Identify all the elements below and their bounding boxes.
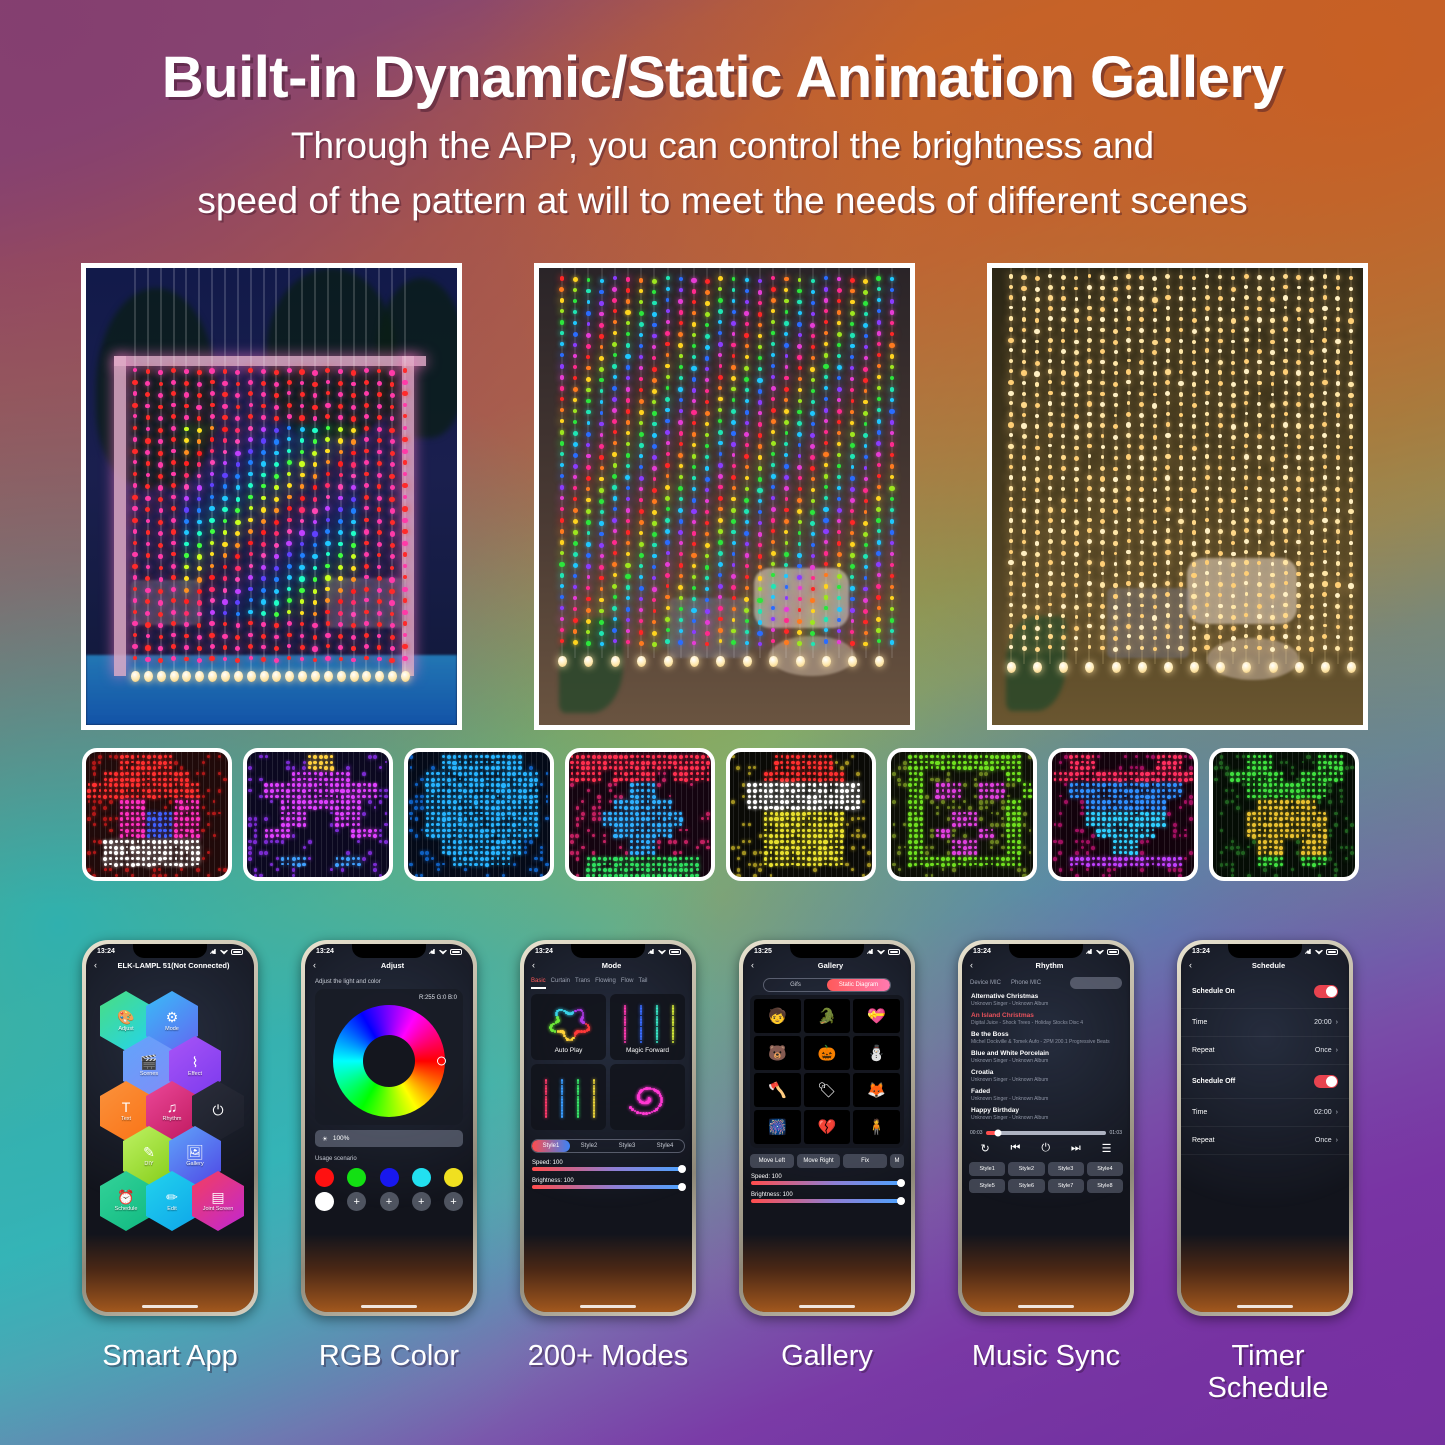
total-time: 01:03: [1109, 1130, 1122, 1136]
schedule-row-value-wrap: 02:00›: [1314, 1109, 1338, 1116]
back-button[interactable]: ‹: [532, 960, 535, 970]
gallery-item-broken-heart[interactable]: 💔: [804, 1110, 851, 1144]
song-item[interactable]: Alternative ChristmasUnknown Singer - Un…: [971, 993, 1121, 1007]
schedule-row-value-wrap: Once›: [1315, 1137, 1338, 1144]
mode-cell-1[interactable]: Magic Forward: [610, 994, 685, 1060]
home-indicator: [580, 1305, 636, 1308]
hero-image-living-room-rainbow: [534, 263, 915, 730]
gallery-item-fireworks[interactable]: 🎆: [754, 1110, 801, 1144]
chevron-right-icon: ›: [1336, 1109, 1338, 1116]
status-time: 13:24: [316, 948, 334, 955]
seek-slider[interactable]: [986, 1131, 1107, 1135]
brush-icon: ✎: [143, 1145, 155, 1159]
song-title: Blue and White Porcelain: [971, 1050, 1121, 1057]
mode-label: Magic Forward: [626, 1047, 669, 1054]
song-item[interactable]: An Island ChristmasDigital Juice - Shock…: [971, 1012, 1121, 1026]
screen-mode: 13:24 ‹ Mode BasicCurtainTransFlowingFlo…: [524, 944, 692, 1312]
rhythm-style-grid: Style1Style2Style3Style4Style5Style6Styl…: [962, 1159, 1130, 1196]
wifi-icon: [877, 949, 885, 955]
gallery-segment-control: GifsStatic Diagram: [763, 978, 891, 992]
song-subtitle: Digital Juice - Shock Trees - Holiday St…: [971, 1020, 1121, 1026]
pencil-square-icon: ✏: [166, 1190, 178, 1204]
song-subtitle: Unknown Singer - Unknown Album: [971, 1001, 1121, 1007]
screen-adjust: 13:24 ‹ Adjust Adjust the light and colo…: [305, 944, 473, 1312]
menu-hex-label: Edit: [167, 1206, 176, 1212]
wifi-icon: [220, 949, 228, 955]
phone-modes: 13:24 ‹ Mode BasicCurtainTransFlowingFlo…: [520, 940, 696, 1316]
section-label: Adjust the light and color: [305, 975, 473, 987]
segment-gifs[interactable]: Gifs: [764, 979, 827, 991]
device-name-title: ELK-LAMPL 51(Not Connected): [101, 961, 246, 970]
song-list: Alternative ChristmasUnknown Singer - Un…: [962, 991, 1130, 1128]
schedule-row-value: Once: [1315, 1137, 1332, 1144]
next-icon[interactable]: ⏭: [1071, 1142, 1081, 1155]
brightness-icon: ☀: [322, 1135, 328, 1143]
subtitle-line-1: Through the APP, you can control the bri…: [0, 125, 1445, 167]
brightness-label: Brightness: 100: [524, 1175, 692, 1185]
mode-tab-tail[interactable]: Tail: [639, 978, 648, 989]
mode-cell-3[interactable]: [610, 1064, 685, 1130]
brightness-value: 100%: [333, 1135, 350, 1142]
mode-cell-0[interactable]: Auto Play: [531, 994, 606, 1060]
menu-hex-label: Effect: [188, 1071, 202, 1077]
song-item[interactable]: FadedUnknown Singer - Unknown Album: [971, 1088, 1121, 1102]
nav-bar: ‹ Mode: [524, 955, 692, 975]
screen-schedule: 13:24 ‹ Schedule Schedule OnTime20:00›Re…: [1181, 944, 1349, 1312]
wifi-icon: [658, 949, 666, 955]
mode-grid: Auto PlayMagic Forward: [524, 989, 692, 1135]
hex-menu-grid: 🎨Adjust⚙Mode🎬Scenes⌇EffectTText♫Rhythm⏻✎…: [86, 991, 254, 1223]
speed-label: Speed: 100: [524, 1157, 692, 1167]
caption-smart-app: Smart App: [75, 1340, 265, 1372]
song-subtitle: Unknown Singer - Unknown Album: [971, 1058, 1121, 1064]
thumbnail-pattern-blue-shape[interactable]: [404, 748, 554, 881]
gallery-item-sale-sign[interactable]: 🏷: [804, 1073, 851, 1107]
wifi-icon: [1096, 949, 1104, 955]
phone-timer-schedule: 13:24 ‹ Schedule Schedule OnTime20:00›Re…: [1177, 940, 1353, 1316]
schedule-row-label: Repeat: [1192, 1047, 1215, 1054]
nav-bar: ‹ Gallery: [743, 955, 911, 975]
song-item[interactable]: Blue and White PorcelainUnknown Singer -…: [971, 1050, 1121, 1064]
power-icon: ⏻: [212, 1103, 223, 1117]
mode-preview: [616, 1075, 680, 1119]
hero-image-outdoor-pergola: [81, 263, 462, 730]
style-button-style2[interactable]: Style2: [570, 1140, 608, 1152]
back-button[interactable]: ‹: [751, 960, 754, 970]
menu-hex-label: Gallery: [186, 1161, 203, 1167]
song-title: Alternative Christmas: [971, 993, 1121, 1000]
battery-icon: [888, 949, 900, 955]
mode-tab-trans[interactable]: Trans: [575, 978, 590, 989]
song-title: Be the Boss: [971, 1031, 1121, 1038]
gallery-item-rainbow-heart[interactable]: 💝: [853, 999, 900, 1033]
battery-icon: [450, 949, 462, 955]
phone-rgb-color: 13:24 ‹ Adjust Adjust the light and colo…: [301, 940, 477, 1316]
home-indicator: [142, 1305, 198, 1308]
status-time: 13:24: [1192, 948, 1210, 955]
schedule-row-time[interactable]: Time20:00›: [1181, 1009, 1349, 1037]
battery-icon: [1326, 949, 1338, 955]
song-subtitle: Unknown Singer - Unknown Album: [971, 1077, 1121, 1083]
mode-tab-flow[interactable]: Flow: [621, 978, 634, 989]
menu-hex-label: DIY: [144, 1161, 153, 1167]
brightness-slider-bar[interactable]: ☀ 100%: [315, 1130, 463, 1147]
menu-hex-label: Mode: [165, 1026, 179, 1032]
mode-cell-2[interactable]: [531, 1064, 606, 1130]
battery-icon: [231, 949, 243, 955]
thumbnail-pattern-santa-hat[interactable]: [726, 748, 876, 881]
color-swatch-2[interactable]: [380, 1168, 399, 1187]
status-bar: 13:24: [305, 944, 473, 955]
gallery-item-dinosaur[interactable]: 🐊: [804, 999, 851, 1033]
home-indicator: [1237, 1305, 1293, 1308]
song-title: An Island Christmas: [971, 1012, 1121, 1019]
segment-static-diagram[interactable]: Static Diagram: [827, 979, 890, 991]
schedule-row-schedule-off[interactable]: Schedule Off: [1181, 1065, 1349, 1099]
style-button-style1[interactable]: Style1: [532, 1140, 570, 1152]
caption-gallery: Gallery: [732, 1340, 922, 1372]
add-swatch-button[interactable]: +: [444, 1192, 463, 1211]
color-swatch-1[interactable]: [347, 1168, 366, 1187]
page-title: Adjust: [320, 961, 465, 970]
mode-tab-curtain[interactable]: Curtain: [551, 978, 570, 989]
brightness-slider[interactable]: [532, 1185, 684, 1189]
phone-gallery: 13:25 ‹ Gallery GifsStatic Diagram 🧒🐊💝🐻🎃…: [739, 940, 915, 1316]
home-indicator: [1018, 1305, 1074, 1308]
sliders-icon: ⚙: [166, 1010, 179, 1024]
color-swatch-0[interactable]: [315, 1168, 334, 1187]
rhythm-style-style7[interactable]: Style7: [1048, 1179, 1084, 1193]
palette-icon: 🎨: [117, 1010, 134, 1024]
gallery-item-gingerbread-man[interactable]: 🧒: [754, 999, 801, 1033]
caption-rgb-color: RGB Color: [294, 1340, 484, 1372]
nav-bar: ‹ Adjust: [305, 955, 473, 975]
previous-icon[interactable]: ⏮: [1011, 1142, 1021, 1155]
schedule-row-value-wrap: 20:00›: [1314, 1019, 1338, 1026]
signal-icon: [210, 949, 217, 954]
schedule-row-label: Repeat: [1192, 1137, 1215, 1144]
page-title: Gallery: [758, 961, 903, 970]
product-infographic: Built-in Dynamic/Static Animation Galler…: [0, 0, 1445, 1445]
page-title: Built-in Dynamic/Static Animation Galler…: [0, 44, 1445, 111]
song-title: Croatia: [971, 1069, 1121, 1076]
chevron-right-icon: ›: [1336, 1047, 1338, 1054]
schedule-row-value-wrap: Once›: [1315, 1047, 1338, 1054]
battery-icon: [1107, 949, 1119, 955]
thumbnail-pattern-house[interactable]: [82, 748, 232, 881]
schedule-toggle[interactable]: [1314, 985, 1338, 998]
gallery-button-fix[interactable]: Fix: [843, 1154, 887, 1168]
schedule-row-repeat[interactable]: RepeatOnce›: [1181, 1037, 1349, 1065]
add-swatch-button[interactable]: +: [347, 1192, 366, 1211]
home-indicator: [361, 1305, 417, 1308]
waveform-icon: ⌇: [192, 1055, 199, 1069]
status-time: 13:25: [754, 948, 772, 955]
add-swatch-button[interactable]: +: [412, 1192, 431, 1211]
back-button[interactable]: ‹: [970, 960, 973, 970]
color-wheel[interactable]: [333, 1005, 445, 1117]
rhythm-style-style8[interactable]: Style8: [1087, 1179, 1123, 1193]
usage-scenario-label: Usage scenario: [305, 1152, 473, 1164]
song-item[interactable]: Happy BirthdayUnknown Singer - Unknown A…: [971, 1107, 1121, 1121]
thumbnail-pattern-star[interactable]: [243, 748, 393, 881]
status-bar: 13:24: [86, 944, 254, 955]
song-title: Faded: [971, 1088, 1121, 1095]
back-button[interactable]: ‹: [94, 960, 97, 970]
status-time: 13:24: [97, 948, 115, 955]
seek-row: 00:03 01:03: [962, 1128, 1130, 1138]
schedule-row-schedule-on[interactable]: Schedule On: [1181, 975, 1349, 1009]
gallery-action-buttons: Move LeftMove RightFixM: [743, 1151, 911, 1171]
back-button[interactable]: ‹: [1189, 960, 1192, 970]
song-subtitle: Unknown Singer - Unknown Album: [971, 1096, 1121, 1102]
mode-preview: [616, 1001, 680, 1045]
song-item[interactable]: CroatiaUnknown Singer - Unknown Album: [971, 1069, 1121, 1083]
gallery-item-snowman[interactable]: ⛄: [853, 1036, 900, 1070]
page-title: Mode: [539, 961, 684, 970]
color-swatch-3[interactable]: [412, 1168, 431, 1187]
rhythm-style-style6[interactable]: Style6: [1008, 1179, 1044, 1193]
music-note-icon: ♫: [167, 1100, 178, 1114]
signal-icon: [867, 949, 874, 954]
song-subtitle: Michel Dockville & Tomek Aufo - 2PM 200.…: [971, 1039, 1121, 1045]
menu-hex-label: Text: [121, 1116, 131, 1122]
schedule-row-label: Schedule Off: [1192, 1078, 1235, 1085]
style-button-style4[interactable]: Style4: [646, 1140, 684, 1152]
caption-line-2: Schedule: [1208, 1372, 1329, 1404]
repeat-icon[interactable]: ↻: [980, 1142, 989, 1155]
rhythm-style-style1[interactable]: Style1: [969, 1162, 1005, 1176]
color-wheel-handle[interactable]: [437, 1057, 446, 1066]
signal-icon: [1305, 949, 1312, 954]
thumbnail-pattern-green-deer[interactable]: [1209, 748, 1359, 881]
color-wheel-center: [363, 1035, 415, 1087]
mode-tab-bar: BasicCurtainTransFlowingFlowTail: [524, 975, 692, 989]
signal-icon: [429, 949, 436, 954]
split-screen-icon: ▤: [211, 1190, 224, 1204]
song-title: Happy Birthday: [971, 1107, 1121, 1114]
song-subtitle: Unknown Singer - Unknown Album: [971, 1115, 1121, 1121]
color-wheel-card: R:255 G:0 B:0: [315, 989, 463, 1125]
nav-bar: ‹ Rhythm: [962, 955, 1130, 975]
gallery-grid: 🧒🐊💝🐻🎃⛄🪓🏷🦊🎆💔🧍: [750, 995, 904, 1148]
gallery-item-fox[interactable]: 🦊: [853, 1073, 900, 1107]
schedule-row-value: 02:00: [1314, 1109, 1332, 1116]
menu-hex-label: Adjust: [118, 1026, 133, 1032]
image-icon: 🖼: [186, 1145, 204, 1159]
mic-toggle-pill[interactable]: [1070, 977, 1122, 989]
style-button-style3[interactable]: Style3: [608, 1140, 646, 1152]
alarm-clock-icon: ⏰: [117, 1190, 134, 1204]
status-bar: 13:24: [962, 944, 1130, 955]
speed-slider[interactable]: [532, 1167, 684, 1171]
thumbnail-pattern-smiley[interactable]: [887, 748, 1037, 881]
phone-music-sync: 13:24 ‹ Rhythm Device MIC Phone MIC Alte…: [958, 940, 1134, 1316]
caption-modes: 200+ Modes: [513, 1340, 703, 1372]
thumbnail-pattern-heart[interactable]: [1048, 748, 1198, 881]
clapboard-icon: 🎬: [140, 1055, 157, 1069]
mic-source-row: Device MIC Phone MIC: [962, 975, 1130, 991]
color-swatch-white[interactable]: [315, 1192, 334, 1211]
color-swatch-4[interactable]: [444, 1168, 463, 1187]
phone-smart-app: 13:24 ‹ ELK-LAMPL 51(Not Connected) 🎨Adj…: [82, 940, 258, 1316]
mode-tab-basic[interactable]: Basic: [531, 978, 546, 989]
rhythm-style-style2[interactable]: Style2: [1008, 1162, 1044, 1176]
screen-rhythm: 13:24 ‹ Rhythm Device MIC Phone MIC Alte…: [962, 944, 1130, 1312]
menu-hex-label: Schedule: [115, 1206, 138, 1212]
nav-bar: ‹ Schedule: [1181, 955, 1349, 975]
add-swatch-button[interactable]: +: [380, 1192, 399, 1211]
gallery-button-m[interactable]: M: [890, 1154, 904, 1168]
style-selector: Style1Style2Style3Style4: [531, 1139, 685, 1153]
chevron-right-icon: ›: [1336, 1137, 1338, 1144]
back-button[interactable]: ‹: [313, 960, 316, 970]
color-swatches: ++++: [305, 1164, 473, 1220]
playlist-icon[interactable]: ☰: [1102, 1142, 1112, 1155]
mode-preview: [537, 1001, 601, 1045]
status-time: 13:24: [973, 948, 991, 955]
menu-hex-label: Scenes: [140, 1071, 158, 1077]
gallery-item-teddy-bear[interactable]: 🐻: [754, 1036, 801, 1070]
brightness-slider[interactable]: [751, 1199, 903, 1203]
status-time: 13:24: [535, 948, 553, 955]
schedule-row-label: Time: [1192, 1019, 1207, 1026]
schedule-rows: Schedule OnTime20:00›RepeatOnce›Schedule…: [1181, 975, 1349, 1155]
home-indicator: [799, 1305, 855, 1308]
caption-line-1: Timer: [1231, 1340, 1304, 1372]
caption-music-sync: Music Sync: [951, 1340, 1141, 1372]
menu-hex-label: Joint Screen: [203, 1206, 234, 1212]
gallery-item-jack-o-lantern[interactable]: 🎃: [804, 1036, 851, 1070]
subtitle-line-2: speed of the pattern at will to meet the…: [0, 180, 1445, 222]
page-title: Rhythm: [977, 961, 1122, 970]
status-bar: 13:25: [743, 944, 911, 955]
nav-bar: ‹ ELK-LAMPL 51(Not Connected): [86, 955, 254, 975]
phone-mic-option[interactable]: Phone MIC: [1011, 980, 1041, 986]
rhythm-style-style3[interactable]: Style3: [1048, 1162, 1084, 1176]
speed-label: Speed: 100: [743, 1171, 911, 1181]
chevron-right-icon: ›: [1336, 1019, 1338, 1026]
device-mic-option[interactable]: Device MIC: [970, 980, 1001, 986]
battery-icon: [669, 949, 681, 955]
schedule-row-value: 20:00: [1314, 1019, 1332, 1026]
mode-preview: [537, 1075, 601, 1119]
gallery-button-move-right[interactable]: Move Right: [797, 1154, 841, 1168]
menu-hex-label: Rhythm: [163, 1116, 182, 1122]
status-bar: 13:24: [524, 944, 692, 955]
gallery-item-character[interactable]: 🧍: [853, 1110, 900, 1144]
mode-tab-flowing[interactable]: Flowing: [595, 978, 616, 989]
status-bar: 13:24: [1181, 944, 1349, 955]
schedule-row-value: Once: [1315, 1047, 1332, 1054]
brightness-label: Brightness: 100: [743, 1189, 911, 1199]
signal-icon: [648, 949, 655, 954]
schedule-toggle[interactable]: [1314, 1075, 1338, 1088]
gallery-button-move-left[interactable]: Move Left: [750, 1154, 794, 1168]
elapsed-time: 00:03: [970, 1130, 983, 1136]
schedule-row-time[interactable]: Time02:00›: [1181, 1099, 1349, 1127]
rgb-value-readout: R:255 G:0 B:0: [321, 995, 457, 1001]
screen-gallery: 13:25 ‹ Gallery GifsStatic Diagram 🧒🐊💝🐻🎃…: [743, 944, 911, 1312]
page-title: Schedule: [1196, 961, 1341, 970]
gallery-item-hot-banner[interactable]: 🪓: [754, 1073, 801, 1107]
mode-label: Auto Play: [555, 1047, 583, 1054]
hero-image-living-room-warm: [987, 263, 1368, 730]
thumbnail-pattern-tree[interactable]: [565, 748, 715, 881]
schedule-row-label: Schedule On: [1192, 988, 1235, 995]
wifi-icon: [439, 949, 447, 955]
transport-controls: ↻⏮⏻⏭☰: [962, 1138, 1130, 1159]
rhythm-style-style4[interactable]: Style4: [1087, 1162, 1123, 1176]
caption-timer-schedule: Timer Schedule: [1170, 1340, 1366, 1405]
schedule-row-label: Time: [1192, 1109, 1207, 1116]
rhythm-style-style5[interactable]: Style5: [969, 1179, 1005, 1193]
signal-icon: [1086, 949, 1093, 954]
song-item[interactable]: Be the BossMichel Dockville & Tomek Aufo…: [971, 1031, 1121, 1045]
speed-slider[interactable]: [751, 1181, 903, 1185]
screen-smart-app: 13:24 ‹ ELK-LAMPL 51(Not Connected) 🎨Adj…: [86, 944, 254, 1312]
wifi-icon: [1315, 949, 1323, 955]
play-pause-icon[interactable]: ⏻: [1041, 1142, 1050, 1155]
text-icon: T: [122, 1100, 131, 1114]
schedule-row-repeat[interactable]: RepeatOnce›: [1181, 1127, 1349, 1155]
